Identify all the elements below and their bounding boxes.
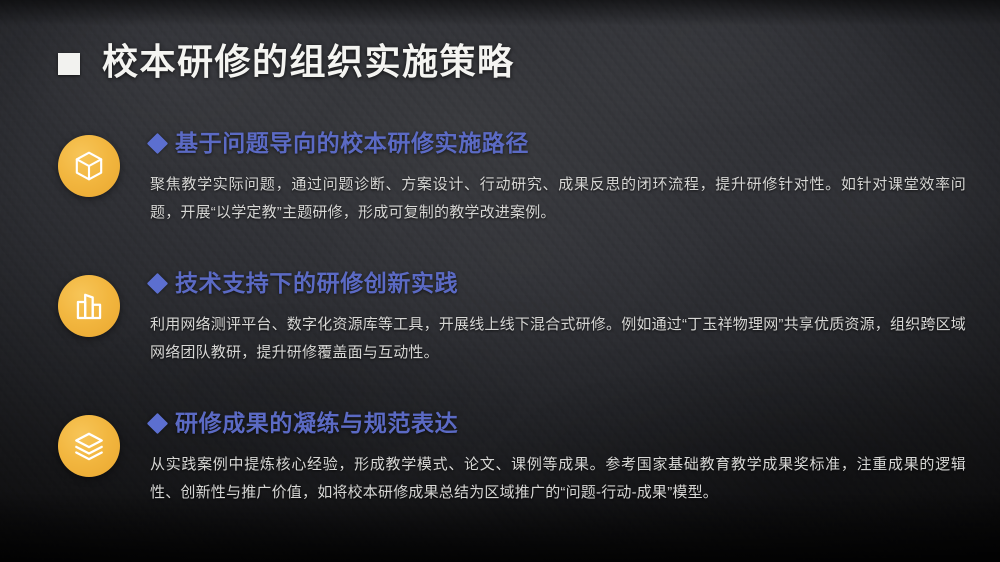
- layers-icon-badge: [58, 415, 120, 477]
- section-2-heading-row: 技术支持下的研修创新实践: [150, 269, 966, 298]
- cube-icon: [72, 149, 106, 183]
- section-1-body: 基于问题导向的校本研修实施路径 聚焦教学实际问题，通过问题诊断、方案设计、行动研…: [150, 129, 966, 226]
- presentation-slide: 校本研修的组织实施策略 基于问题导向的校本研修实施路径 聚焦教学实际问题，通过问…: [0, 0, 1000, 562]
- section-2-paragraph: 利用网络测评平台、数字化资源库等工具，开展线上线下混合式研修。例如通过“丁玉祥物…: [150, 311, 966, 367]
- section-2-heading: 技术支持下的研修创新实践: [175, 269, 458, 298]
- section-2-body: 技术支持下的研修创新实践 利用网络测评平台、数字化资源库等工具，开展线上线下混合…: [150, 269, 966, 366]
- slide-content: 校本研修的组织实施策略 基于问题导向的校本研修实施路径 聚焦教学实际问题，通过问…: [0, 0, 1000, 562]
- section-3-paragraph: 从实践案例中提炼核心经验，形成教学模式、论文、课例等成果。参考国家基础教育教学成…: [150, 451, 966, 507]
- content-section-3: 研修成果的凝练与规范表达 从实践案例中提炼核心经验，形成教学模式、论文、课例等成…: [58, 409, 966, 506]
- section-1-paragraph: 聚焦教学实际问题，通过问题诊断、方案设计、行动研究、成果反思的闭环流程，提升研修…: [150, 171, 966, 227]
- section-1-heading-row: 基于问题导向的校本研修实施路径: [150, 129, 966, 158]
- section-1-heading: 基于问题导向的校本研修实施路径: [175, 129, 529, 158]
- diamond-bullet-icon: [147, 133, 168, 154]
- section-3-heading: 研修成果的凝练与规范表达: [175, 409, 458, 438]
- layers-icon: [72, 429, 106, 463]
- square-bullet-icon: [58, 53, 80, 75]
- buildings-icon: [72, 289, 106, 323]
- buildings-icon-badge: [58, 275, 120, 337]
- section-3-heading-row: 研修成果的凝练与规范表达: [150, 409, 966, 438]
- content-section-1: 基于问题导向的校本研修实施路径 聚焦教学实际问题，通过问题诊断、方案设计、行动研…: [58, 129, 966, 226]
- diamond-bullet-icon: [147, 273, 168, 294]
- diamond-bullet-icon: [147, 413, 168, 434]
- section-3-body: 研修成果的凝练与规范表达 从实践案例中提炼核心经验，形成教学模式、论文、课例等成…: [150, 409, 966, 506]
- page-title: 校本研修的组织实施策略: [102, 42, 515, 82]
- cube-icon-badge: [58, 135, 120, 197]
- slide-title-row: 校本研修的组织实施策略: [58, 42, 515, 82]
- content-section-2: 技术支持下的研修创新实践 利用网络测评平台、数字化资源库等工具，开展线上线下混合…: [58, 269, 966, 366]
